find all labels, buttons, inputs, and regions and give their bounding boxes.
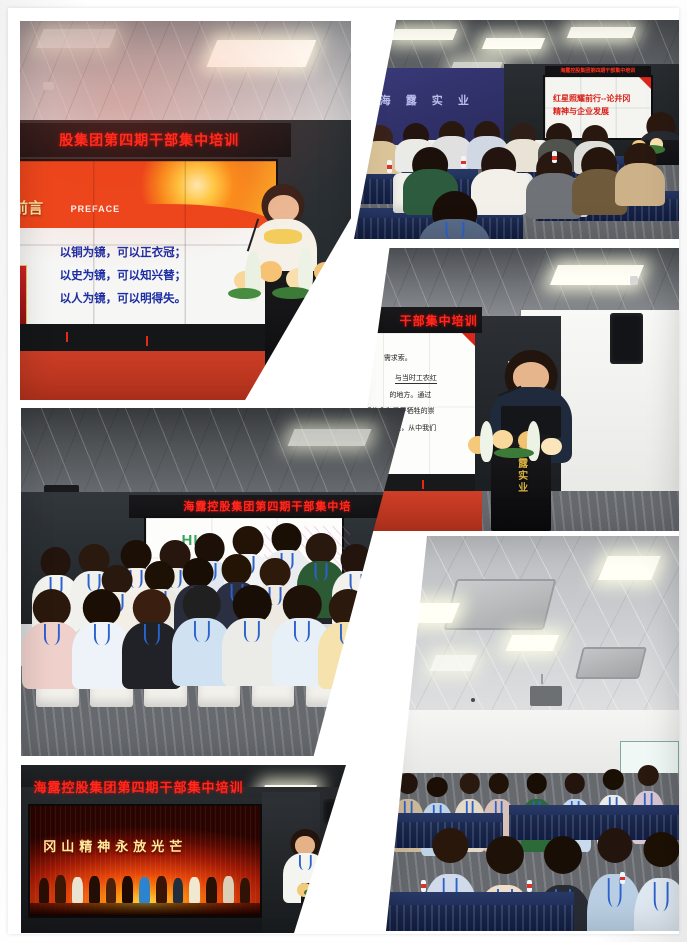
water-bottle	[387, 160, 392, 173]
water-bottle	[552, 151, 557, 163]
ceiling-lamp-icon	[287, 429, 371, 446]
attendee	[597, 828, 632, 891]
group-member-back	[40, 547, 71, 585]
ceiling-lamp-icon	[598, 556, 660, 580]
stage-indicator-light	[422, 480, 424, 489]
attendee	[474, 121, 500, 143]
podium-label: 海露实业	[317, 889, 327, 925]
male-speaker	[291, 829, 320, 863]
ceiling	[21, 408, 406, 498]
attendee	[367, 125, 393, 147]
panel-group-photo[interactable]: 海露控股集团第四期干部集中培 HL	[21, 408, 406, 756]
stage-indicator-light	[66, 332, 68, 342]
water-bottle	[461, 156, 466, 168]
attendee	[413, 147, 449, 178]
female-speaker	[262, 184, 305, 233]
panel-preface-lecture[interactable]: 股集团第四期干部集中培训 前言 PREFACE 以铜为镜，可以正衣冠； 以史为镜…	[20, 21, 351, 400]
group-member-back	[271, 523, 302, 561]
video-wall: 冈山精神永放光芒	[28, 804, 262, 918]
attendee	[398, 773, 419, 809]
attendee	[403, 123, 429, 145]
brand-wall-text: 海 露 实 业	[369, 84, 486, 116]
wall-speaker	[610, 313, 643, 364]
flower-arrangement	[225, 245, 351, 313]
group-member-front	[133, 589, 172, 634]
attendee	[644, 832, 679, 895]
group-member-front	[33, 589, 72, 634]
photo-collage: 股集团第四期干部集中培训 前言 PREFACE 以铜为镜，可以正衣冠； 以史为镜…	[0, 0, 687, 942]
ceiling-lamp-icon	[482, 38, 545, 49]
attendee	[638, 765, 659, 801]
group-member-back	[306, 533, 337, 571]
group-member-front	[283, 585, 322, 630]
attendee	[582, 125, 608, 147]
attendee	[489, 773, 510, 809]
panel-male-speaker[interactable]: 干部集中培训 需求索。 与当时工农红 的地方。通过 的理想信念和勇于牺牲的崇 先…	[350, 248, 679, 531]
led-banner: 海露控股集团第四期干部集中培	[129, 495, 406, 518]
stage-base	[20, 324, 278, 351]
projector-icon	[530, 686, 562, 706]
conference-table	[386, 892, 574, 932]
attendee	[546, 123, 572, 145]
led-banner: 股集团第四期干部集中培训	[20, 123, 291, 157]
led-banner: 干部集中培训	[350, 307, 482, 332]
attendee	[527, 773, 548, 809]
flower-arrangement	[291, 876, 346, 896]
red-stage-floor	[20, 343, 351, 400]
attendee	[624, 143, 657, 171]
security-camera-icon	[471, 698, 475, 702]
attendee	[603, 769, 624, 805]
led-banner: 海露控股集团第四期干部集中培训	[28, 773, 262, 800]
attendee	[582, 147, 618, 178]
security-camera-icon	[43, 82, 54, 90]
male-speaker	[505, 350, 558, 401]
water-bottle	[620, 872, 625, 884]
sprinkler-icon	[630, 276, 638, 285]
ceiling-lamp-icon	[405, 603, 460, 623]
attendee	[481, 147, 517, 178]
group-member-front	[83, 589, 122, 634]
slide-title: 冈山精神永放光芒	[43, 836, 245, 855]
attendee	[432, 191, 478, 230]
ceiling-lamp-icon	[430, 655, 477, 671]
attendee	[427, 777, 448, 813]
stage-indicator-light	[146, 336, 148, 346]
attendee	[565, 773, 586, 809]
group-member-front	[329, 589, 368, 634]
ceiling-lamp-icon	[391, 29, 457, 40]
attendee	[459, 773, 480, 809]
led-banner: 海露控股集团第四期干部集中培训	[545, 66, 652, 76]
projector-mount	[541, 674, 543, 684]
ceiling-lamp-icon	[36, 29, 116, 48]
group-member-front	[371, 589, 406, 634]
ac-ceiling-unit	[575, 647, 647, 679]
ceiling-lamp-icon	[506, 635, 559, 651]
panel-audience-wide[interactable]	[386, 536, 679, 931]
ceiling-lamp-icon	[207, 40, 317, 67]
flower-arrangement	[459, 418, 577, 463]
group-member-front	[233, 585, 272, 630]
panel-jinggangshan[interactable]: 海露控股集团第四期干部集中培训 冈山精神永放光芒	[21, 765, 346, 933]
collage-white-mat: 股集团第四期干部集中培训 前言 PREFACE 以铜为镜，可以正衣冠； 以史为镜…	[8, 8, 679, 934]
attendee	[510, 123, 536, 145]
wall-speaker	[323, 799, 343, 826]
panel-classroom-rear[interactable]: 海 露 实 业 海露控股集团第四期干部集中培训 红星照耀前行--论井冈 精神与企…	[354, 20, 679, 239]
ac-ceiling-unit	[444, 579, 556, 630]
water-bottle	[421, 880, 426, 892]
water-bottle	[527, 880, 532, 892]
attendee	[433, 828, 468, 891]
group-member-back	[341, 544, 372, 582]
ceiling-lamp-icon	[566, 27, 635, 38]
attendee	[439, 121, 465, 143]
group-member-front	[183, 585, 222, 630]
